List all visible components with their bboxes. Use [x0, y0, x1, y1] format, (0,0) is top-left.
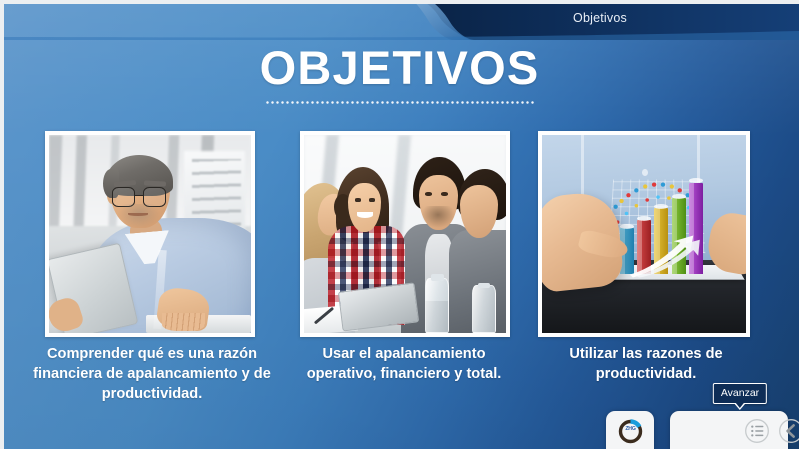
objectives-card-row — [0, 131, 799, 346]
list-menu-icon — [744, 418, 770, 444]
menu-button[interactable] — [744, 418, 770, 444]
player-logo-panel: ZHG — [606, 411, 654, 449]
objective-caption-2: Usar el apalancamiento operativo, financ… — [290, 344, 518, 384]
objective-card-1 — [45, 131, 255, 337]
objective-caption-3: Utilizar las razones de productividad. — [540, 344, 752, 384]
students-group-study-photo — [304, 135, 506, 333]
back-button[interactable] — [778, 418, 799, 444]
tooltip-tail — [734, 403, 746, 410]
chevron-left-icon — [778, 418, 799, 444]
man-with-tablet-office-photo — [49, 135, 251, 333]
player-nav-panel — [670, 411, 788, 449]
presentation-slide: Objetivos OBJETIVOS — [0, 0, 799, 449]
tooltip-label: Avanzar — [721, 387, 759, 399]
title-dotted-divider — [265, 101, 535, 104]
window-edge-left — [0, 0, 4, 449]
header-title: Objetivos — [540, 11, 660, 25]
page-title: OBJETIVOS — [0, 44, 799, 91]
player-logo-text: ZHG — [617, 427, 644, 432]
forward-button-tooltip: Avanzar — [713, 383, 767, 404]
slide-header-band: Objetivos — [0, 0, 799, 40]
hand-3d-bar-chart-photo — [542, 135, 746, 333]
objective-caption-1: Comprender qué es una razón financiera d… — [18, 344, 286, 404]
window-edge-top — [0, 0, 799, 4]
progress-ring-icon: ZHG — [617, 418, 644, 445]
objective-card-3 — [538, 131, 750, 337]
objective-card-2 — [300, 131, 510, 337]
